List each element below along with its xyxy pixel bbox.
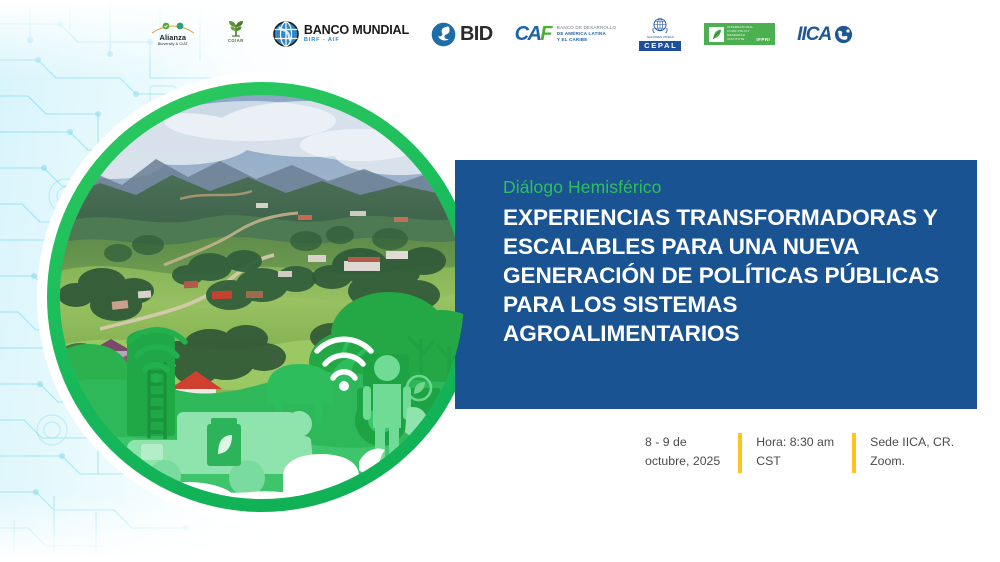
event-details-row: 8 - 9 de octubre, 2025 Hora: 8:30 am CST… [645,433,972,473]
bid-logo: BID [431,17,493,51]
divider-yellow-2 [852,433,856,473]
event-venue: Sede IICA, CR. Zoom. [870,433,972,473]
alianza-arc-icon [150,22,196,34]
ifpri-logo: INTERNATIONAL FOOD POLICY RESEARCH INSTI… [704,23,775,45]
cepal-title: CEPAL [639,41,681,51]
bid-title: BID [460,24,493,44]
iica-logo: IICA [797,17,853,51]
ifpri-title: IFPRI [756,37,770,42]
caf-logo: CAF BANCO DE DESARROLLO DE AMÉRICA LATIN… [515,17,617,51]
iica-globe-icon [834,25,853,44]
banco-mundial-logo: BANCO MUNDIAL BIRF - AIF [273,17,409,51]
event-poster: Alianza Bioversity & CIAT CGIAR [0,0,1000,562]
cgiar-logo: CGIAR [221,17,251,51]
united-nations-emblem-icon [649,17,671,34]
event-time: Hora: 8:30 am CST [756,433,852,473]
headline-panel: Diálogo Hemisférico EXPERIENCIAS TRANSFO… [455,160,977,409]
panel-title: EXPERIENCIAS TRANSFORMADORAS Y ESCALABLE… [503,203,973,348]
iica-wordmark: IICA [797,25,831,44]
hero-circle [37,72,487,522]
event-dates: 8 - 9 de octubre, 2025 [645,433,738,471]
cgiar-plant-icon [226,17,246,37]
banco-mundial-title: BANCO MUNDIAL [304,24,409,37]
hero-photo [60,95,464,499]
event-venue-item: Sede IICA, CR. Zoom. [852,433,972,473]
world-bank-globe-icon [273,21,299,47]
alianza-subtitle: Bioversity & CIAT [158,42,188,46]
caf-subtitle-3: Y EL CARIBE [557,37,616,43]
event-time-item: Hora: 8:30 am CST [738,433,852,473]
cgiar-title: CGIAR [228,38,244,43]
divider-yellow-1 [738,433,742,473]
event-dates-item: 8 - 9 de octubre, 2025 [645,433,738,471]
panel-eyebrow: Diálogo Hemisférico [503,177,973,198]
alianza-bioversity-ciat-logo: Alianza Bioversity & CIAT [147,17,199,51]
ifpri-subtitle-4: INSTITUTE [727,38,753,42]
caf-wordmark: CAF [515,24,551,44]
banco-mundial-subtitle: BIRF - AIF [304,38,409,44]
bid-americas-icon [431,22,456,47]
ifpri-leaf-icon [709,27,724,42]
cepal-subtitle: NACIONES UNIDAS [647,35,674,39]
partner-logo-bar: Alianza Bioversity & CIAT CGIAR [0,0,1000,68]
cepal-logo: NACIONES UNIDAS CEPAL [638,17,682,51]
